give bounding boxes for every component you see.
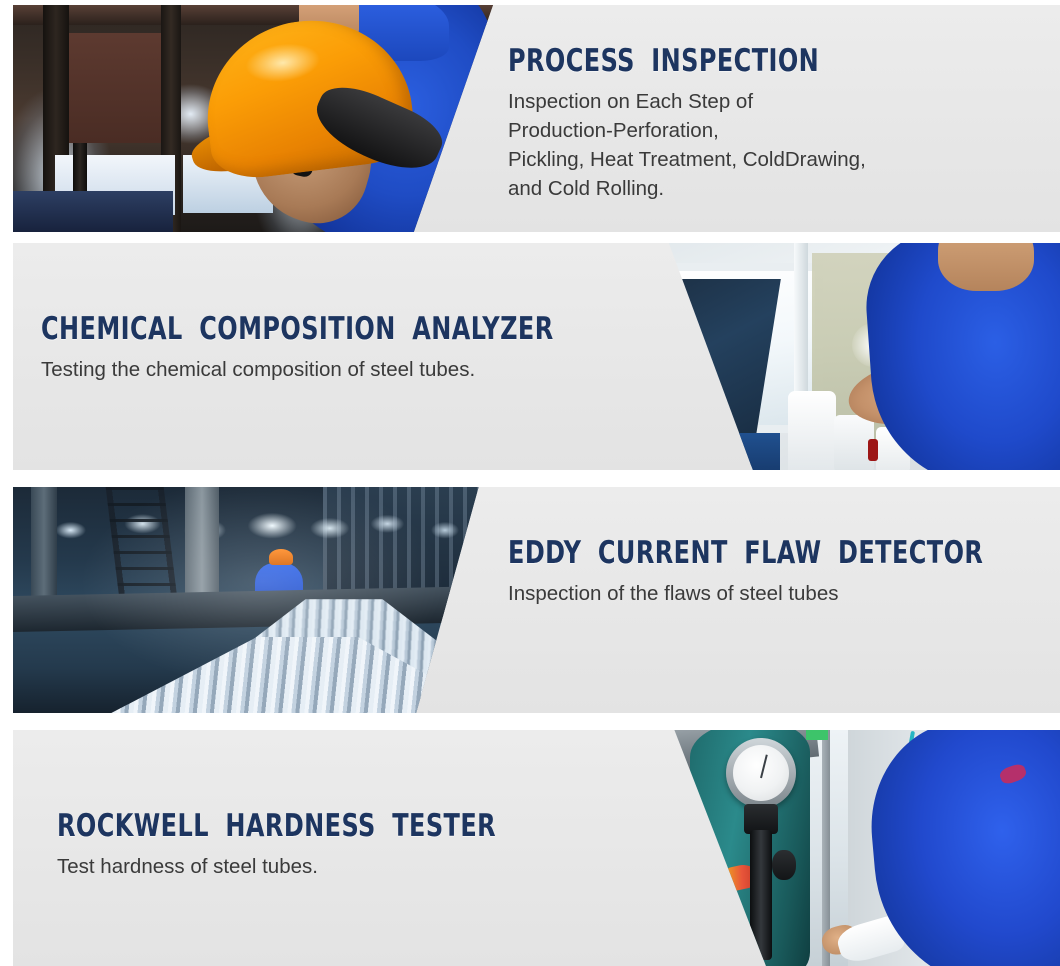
photo-shape-adjust-knob [772,850,796,880]
panel-title: PROCESS INSPECTION [508,43,819,79]
panel-rockwell-hardness-tester[interactable]: ROCKWELL HARDNESS TESTER Test hardness o… [13,730,1060,966]
panel-process-inspection[interactable]: PROCESS INSPECTION Inspection on Each St… [13,5,1060,232]
panel-text-eddy-current-flaw-detector: EDDY CURRENT FLAW DETECTOR Inspection of… [508,535,1060,608]
panel-description: Inspection on Each Step of Production-Pe… [508,87,870,203]
photo-shape-brick-wall [69,33,161,143]
panel-description: Testing the chemical composition of stee… [41,355,637,384]
panel-text-chemical-composition-analyzer: CHEMICAL COMPOSITION ANALYZER Testing th… [41,311,637,384]
photo-shape-light-haze [13,487,493,713]
panel-text-process-inspection: PROCESS INSPECTION Inspection on Each St… [508,43,870,203]
photo-shape-red-vial [868,439,878,461]
photo-shape-monitor-base [620,433,780,470]
panel-eddy-current-flaw-detector[interactable]: EDDY CURRENT FLAW DETECTOR Inspection of… [13,487,1060,713]
panel-title: ROCKWELL HARDNESS TESTER [57,808,496,844]
panel-description: Inspection of the flaws of steel tubes [508,579,1060,608]
panel-chemical-composition-analyzer[interactable]: CHEMICAL COMPOSITION ANALYZER Testing th… [13,243,1060,470]
feature-panel-board: PROCESS INSPECTION Inspection on Each St… [0,0,1060,966]
photo-shape-reagent-bottle [788,391,836,470]
panel-image-eddy-current-flaw-detector [13,487,493,713]
hardness-tester-photo [578,730,1060,966]
steel-tubes-photo [13,487,493,713]
panel-image-rockwell-hardness-tester [578,730,1060,966]
panel-description: Test hardness of steel tubes. [57,852,568,881]
panel-image-chemical-composition-analyzer [580,243,1060,470]
shop-floor-photo [13,5,493,232]
photo-shape-technician-head [938,243,1034,291]
panel-title: CHEMICAL COMPOSITION ANALYZER [41,311,554,347]
panel-title: EDDY CURRENT FLAW DETECTOR [508,535,983,571]
laboratory-photo [580,243,1060,470]
panel-image-process-inspection [13,5,493,232]
photo-shape-anvil-column [750,830,772,960]
photo-shape-green-sticker [806,730,828,740]
photo-shape-machine [13,191,173,232]
panel-text-rockwell-hardness-tester: ROCKWELL HARDNESS TESTER Test hardness o… [57,808,568,881]
